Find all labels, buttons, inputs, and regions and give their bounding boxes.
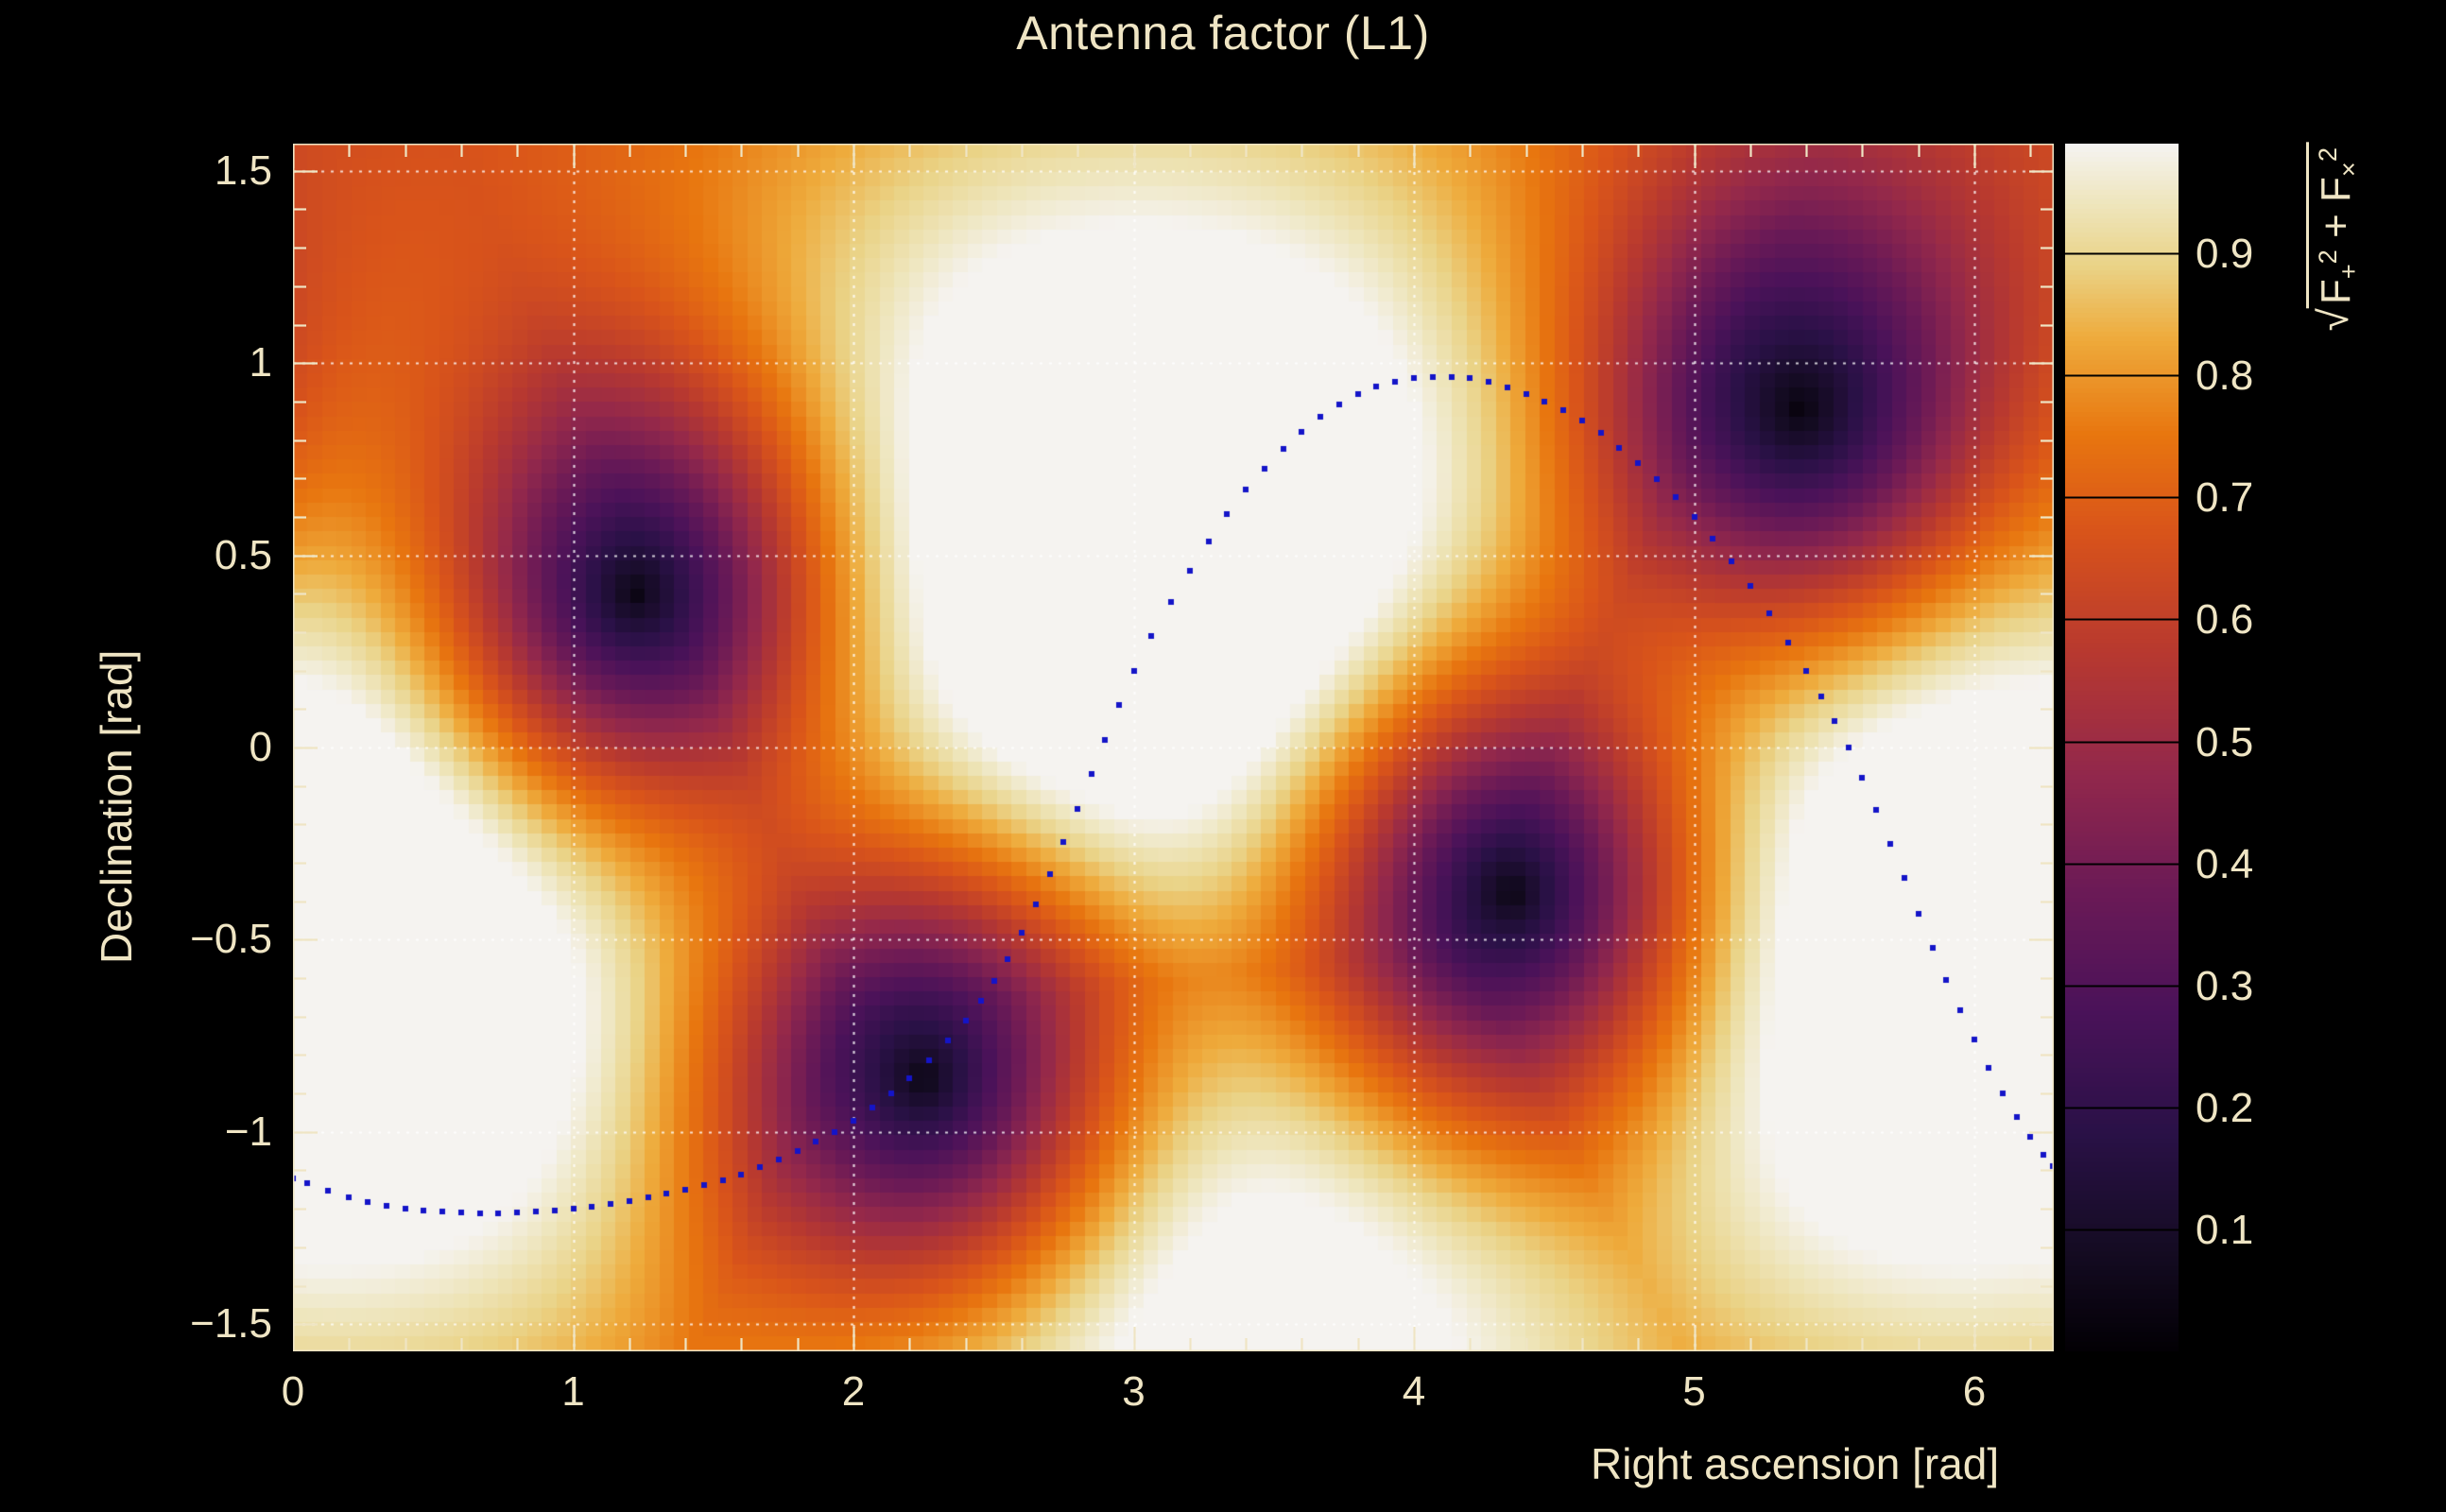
f-plus-superscript: 2 — [2313, 249, 2342, 264]
x-tick-label: 4 — [1403, 1368, 1425, 1416]
root-canvas: Antenna factor (L1) Declination [rad] Ri… — [0, 0, 2446, 1512]
colorbar-tick-label: 0.3 — [2196, 963, 2253, 1010]
x-tick-label: 3 — [1122, 1368, 1145, 1416]
x-tick-label: 0 — [282, 1368, 304, 1416]
f-cross-subscript: × — [2334, 162, 2363, 177]
sqrt-expression: √F+2 + F×2 — [2306, 142, 2364, 336]
colorbar-tick-label: 0.8 — [2196, 352, 2253, 400]
y-tick-label: 0.5 — [104, 532, 272, 579]
y-tick-label: 1 — [104, 339, 272, 387]
radicand: F+2 + F×2 — [2306, 142, 2364, 308]
f-cross-symbol: F — [2313, 177, 2359, 202]
plus-operator: + — [2313, 202, 2359, 249]
x-axis-title: Right ascension [rad] — [1591, 1438, 1999, 1489]
f-cross-superscript: 2 — [2313, 147, 2342, 162]
colorbar-tick-label: 0.2 — [2196, 1085, 2253, 1132]
x-tick-label: 1 — [561, 1368, 584, 1416]
x-tick-label: 2 — [842, 1368, 865, 1416]
colorbar-tick-label: 0.4 — [2196, 841, 2253, 888]
heatmap-plot-area[interactable] — [293, 144, 2054, 1351]
colorbar-tick-label: 0.9 — [2196, 231, 2253, 278]
x-tick-label: 5 — [1682, 1368, 1705, 1416]
colorbar-tick-label: 0.6 — [2196, 596, 2253, 644]
y-tick-label: 0 — [104, 724, 272, 771]
colorbar[interactable] — [2065, 144, 2179, 1351]
colorbar-gradient — [2065, 144, 2179, 1351]
f-plus-symbol: F — [2313, 279, 2359, 304]
y-tick-label: −1 — [104, 1108, 272, 1156]
colorbar-tick-label: 0.1 — [2196, 1207, 2253, 1254]
page-title: Antenna factor (L1) — [0, 6, 2446, 60]
y-tick-label: −1.5 — [104, 1300, 272, 1348]
x-tick-label: 6 — [1963, 1368, 1986, 1416]
f-plus-subscript: + — [2334, 264, 2363, 279]
colorbar-axis-title: √F+2 + F×2 — [2306, 142, 2364, 336]
colorbar-tick-label: 0.7 — [2196, 474, 2253, 522]
radical-sign: √ — [2311, 308, 2358, 331]
y-tick-label: −0.5 — [104, 916, 272, 963]
colorbar-tick-label: 0.5 — [2196, 719, 2253, 766]
grid-and-curve-overlay — [293, 144, 2054, 1351]
y-tick-label: 1.5 — [104, 147, 272, 195]
